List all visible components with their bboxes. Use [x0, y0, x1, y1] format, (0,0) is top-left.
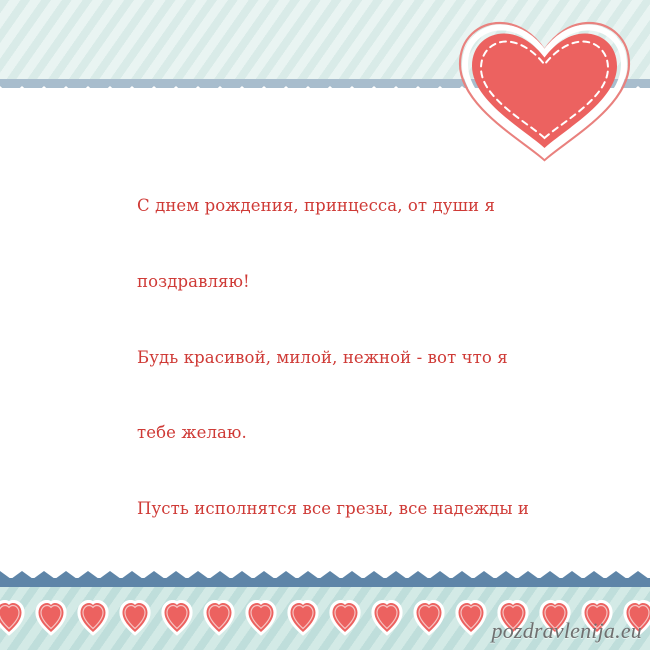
poem-line: Будь красивой, милой, нежной - вот что я [137, 345, 547, 370]
bottom-blue-band [0, 578, 650, 587]
site-signature: pozdravlenija.eu [492, 618, 642, 644]
poem-line: поздравляю! [137, 269, 547, 294]
poem-line: тебе желаю. [137, 420, 547, 445]
poem-line: С днем рождения, принцесса, от души я [137, 193, 547, 218]
large-heart-icon [452, 14, 637, 162]
poem-line: Пусть исполнятся все грезы, все надежды … [137, 496, 547, 521]
greeting-card: С днем рождения, принцесса, от души я по… [0, 0, 650, 650]
